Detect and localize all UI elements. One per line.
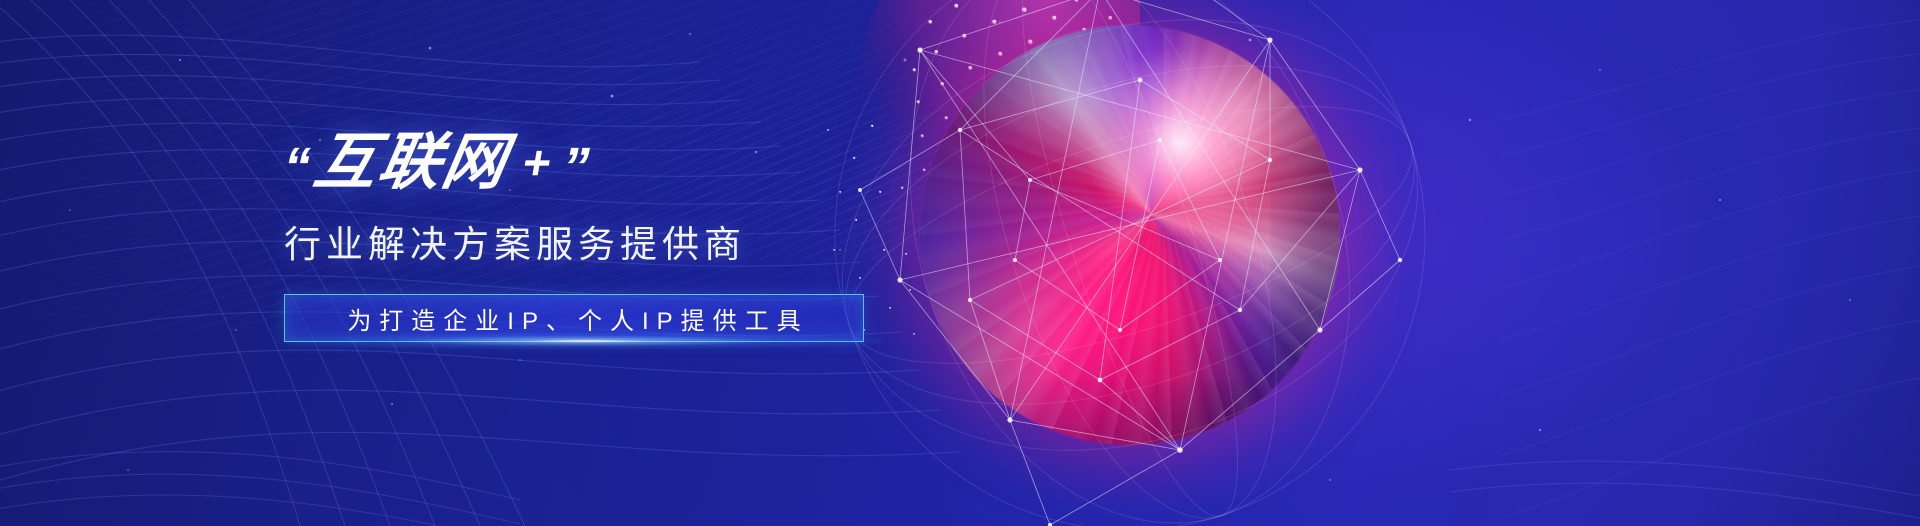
hero-banner: “ 互联网 + ” 行业解决方案服务提供商 为打造企业IP、个人IP提供工具 [0,0,1920,526]
headline-main: 互联网 [310,132,513,194]
banner-copy: “ 互联网 + ” 行业解决方案服务提供商 为打造企业IP、个人IP提供工具 [284,118,904,342]
subtitle: 行业解决方案服务提供商 [284,214,904,268]
tagline-text: 为打造企业IP、个人IP提供工具 [339,301,808,336]
headline: “ 互联网 + ” [284,118,904,194]
marbled-sphere-shadow [920,25,1340,445]
network-globe-graphic [800,0,1500,526]
network-mesh [800,0,1500,526]
plus-symbol: + [519,140,557,188]
tagline-box: 为打造企业IP、个人IP提供工具 [284,294,864,342]
close-quote: ” [557,140,597,194]
marbled-sphere [920,25,1340,445]
